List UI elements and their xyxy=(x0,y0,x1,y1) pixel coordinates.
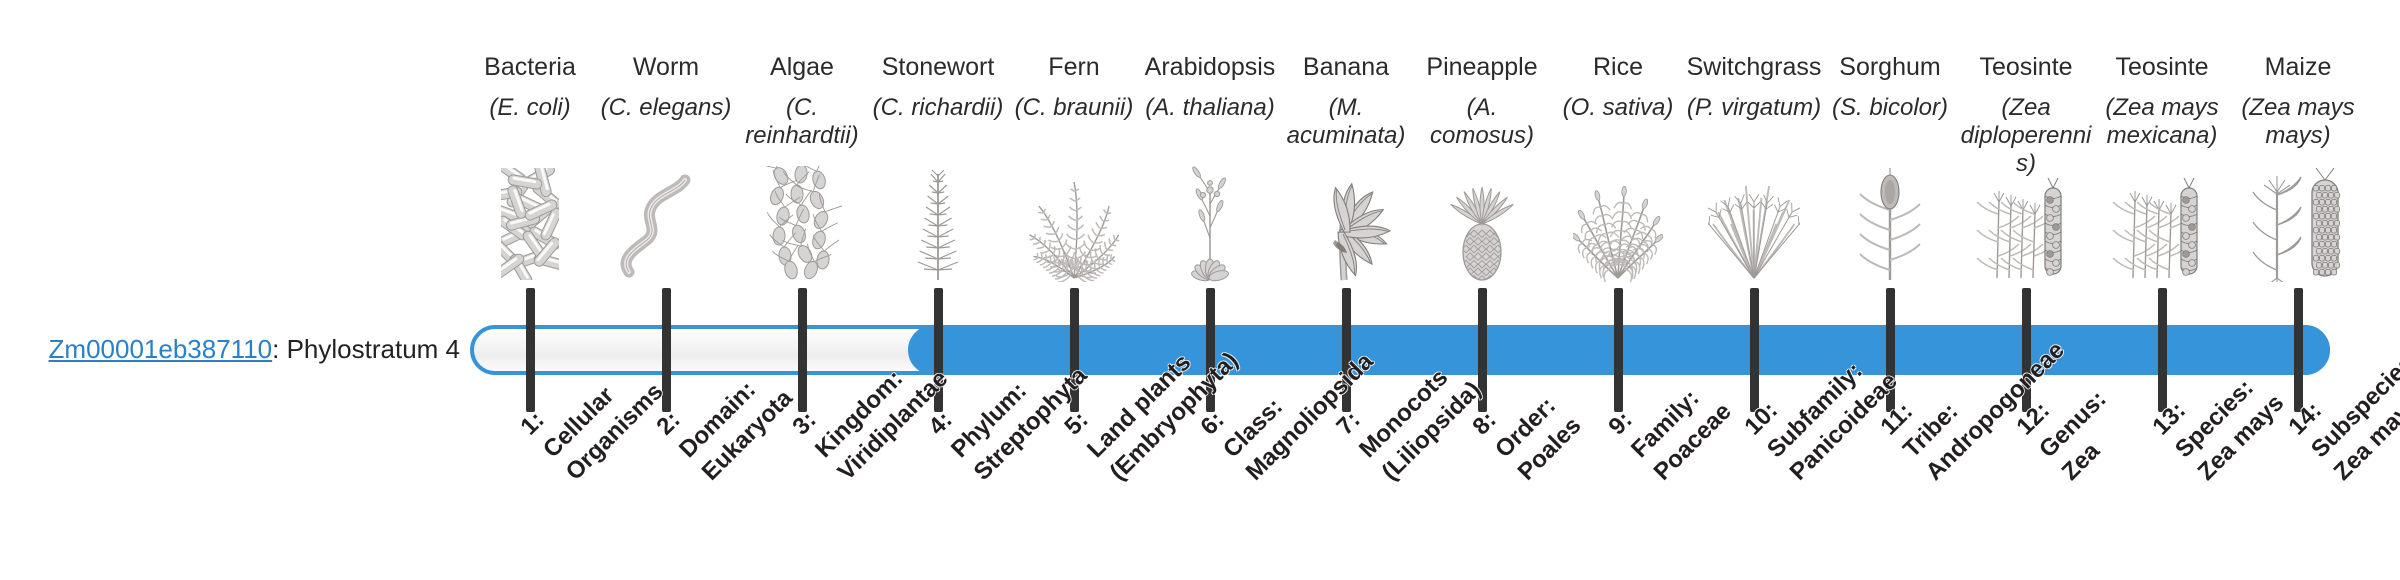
species-column: Maize(Zea mays mays) xyxy=(2228,52,2368,150)
species-illustration-bacteria-icon xyxy=(460,166,600,282)
species-scientific-name: (C. elegans) xyxy=(596,94,736,122)
species-column: Pineapple(A. comosus) xyxy=(1412,52,1552,150)
species-common-name: Fern xyxy=(1004,52,1144,82)
species-common-name: Stonewort xyxy=(868,52,1008,82)
species-common-name: Switchgrass xyxy=(1684,52,1824,82)
species-scientific-name: (C. braunii) xyxy=(1004,94,1144,122)
species-common-name: Bacteria xyxy=(460,52,600,82)
species-scientific-name: (Zea mays mexicana) xyxy=(2092,94,2232,150)
species-column: Stonewort(C. richardii) xyxy=(868,52,1008,122)
phylostratum-timeline: Zm00001eb387110: Phylostratum 4 Bacteria… xyxy=(0,0,2400,580)
species-common-name: Arabidopsis xyxy=(1140,52,1280,82)
gene-phylostratum-label: Zm00001eb387110: Phylostratum 4 xyxy=(40,334,460,364)
species-scientific-name: (M. acuminata) xyxy=(1276,94,1416,150)
species-column: Arabidopsis(A. thaliana) xyxy=(1140,52,1280,122)
species-column: Rice(O. sativa) xyxy=(1548,52,1688,122)
species-column: Teosinte(Zea mays mexicana) xyxy=(2092,52,2232,150)
species-scientific-name: (Zea mays mays) xyxy=(2228,94,2368,150)
species-column: Fern(C. braunii) xyxy=(1004,52,1144,122)
species-scientific-name: (P. virgatum) xyxy=(1684,94,1824,122)
species-scientific-name: (A. comosus) xyxy=(1412,94,1552,150)
species-column: Algae(C. reinhardtii) xyxy=(732,52,872,150)
gene-label-separator: : xyxy=(272,334,286,364)
species-column: Teosinte(Zea diploperennis) xyxy=(1956,52,2096,178)
species-column: Worm(C. elegans) xyxy=(596,52,736,122)
species-common-name: Rice xyxy=(1548,52,1688,82)
species-common-name: Banana xyxy=(1276,52,1416,82)
species-column: Bacteria(E. coli) xyxy=(460,52,600,122)
gene-id-link[interactable]: Zm00001eb387110 xyxy=(49,334,273,364)
species-scientific-name: (C. richardii) xyxy=(868,94,1008,122)
species-column: Switchgrass(P. virgatum) xyxy=(1684,52,1824,122)
species-common-name: Sorghum xyxy=(1820,52,1960,82)
species-common-name: Teosinte xyxy=(1956,52,2096,82)
species-scientific-name: (O. sativa) xyxy=(1548,94,1688,122)
species-scientific-name: (E. coli) xyxy=(460,94,600,122)
phylostratum-value: Phylostratum 4 xyxy=(287,334,460,364)
species-column: Banana(M. acuminata) xyxy=(1276,52,1416,150)
species-common-name: Algae xyxy=(732,52,872,82)
species-common-name: Teosinte xyxy=(2092,52,2232,82)
species-column: Sorghum(S. bicolor) xyxy=(1820,52,1960,122)
species-scientific-name: (S. bicolor) xyxy=(1820,94,1960,122)
species-scientific-name: (A. thaliana) xyxy=(1140,94,1280,122)
species-common-name: Pineapple xyxy=(1412,52,1552,82)
species-scientific-name: (C. reinhardtii) xyxy=(732,94,872,150)
species-common-name: Worm xyxy=(596,52,736,82)
species-common-name: Maize xyxy=(2228,52,2368,82)
tick-mark xyxy=(526,288,535,412)
